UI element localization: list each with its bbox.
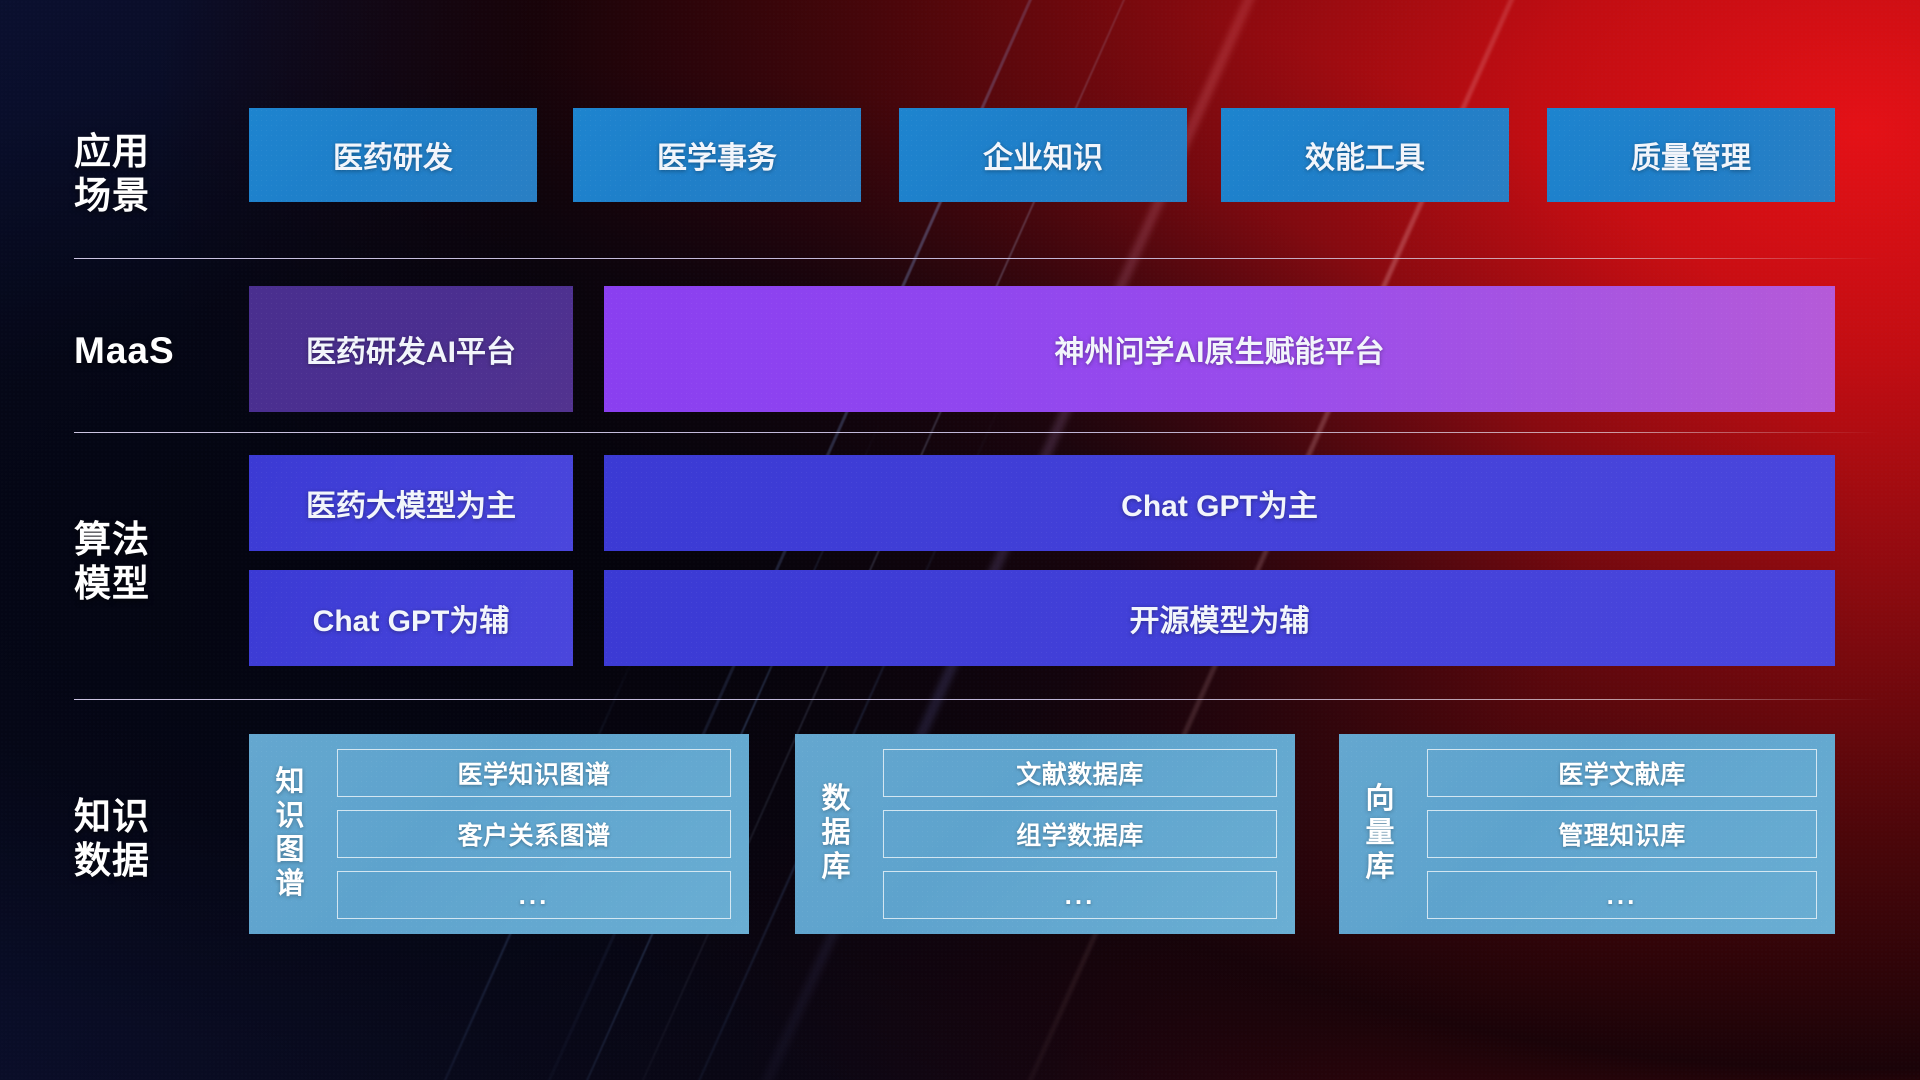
- knowledge-item[interactable]: 医学文献库: [1427, 749, 1817, 797]
- scenario-card-quality-management[interactable]: 质量管理: [1547, 108, 1835, 202]
- knowledge-item-more[interactable]: ...: [883, 871, 1277, 919]
- row-label-algorithm-model: 算法 模型: [74, 518, 226, 605]
- knowledge-item-more[interactable]: ...: [1427, 871, 1817, 919]
- knowledge-item[interactable]: 客户关系图谱: [337, 810, 731, 858]
- knowledge-group-label-char: 向: [1365, 783, 1394, 817]
- knowledge-group-vector-store[interactable]: 向 量 库 医学文献库 管理知识库 ...: [1339, 734, 1835, 934]
- algo-card-chatgpt-primary[interactable]: Chat GPT为主: [604, 455, 1835, 551]
- knowledge-group-label-char: 库: [821, 851, 850, 885]
- row-divider-2: [74, 432, 1880, 433]
- scenario-card-label: 效能工具: [1305, 133, 1425, 177]
- algo-card-opensource-secondary[interactable]: 开源模型为辅: [604, 570, 1835, 666]
- knowledge-group-item-list: 文献数据库 组学数据库 ...: [867, 746, 1281, 922]
- scenario-card-label: 企业知识: [983, 133, 1103, 177]
- scenario-card-drug-rd[interactable]: 医药研发: [249, 108, 537, 202]
- knowledge-group-label-char: 据: [821, 817, 850, 851]
- knowledge-group-label-knowledge-graph: 知 识 图 谱: [259, 746, 321, 922]
- algo-card-label: 医药大模型为主: [306, 481, 516, 525]
- knowledge-group-label-char: 谱: [275, 868, 304, 902]
- knowledge-item[interactable]: 管理知识库: [1427, 810, 1817, 858]
- knowledge-group-item-list: 医学知识图谱 客户关系图谱 ...: [321, 746, 735, 922]
- knowledge-item[interactable]: 组学数据库: [883, 810, 1277, 858]
- row-divider-3: [74, 699, 1880, 700]
- maas-card-drug-rd-ai-platform[interactable]: 医药研发AI平台: [249, 286, 573, 412]
- row-label-application-scenario: 应用 场景: [74, 130, 226, 217]
- algo-card-label: 开源模型为辅: [1130, 596, 1310, 640]
- row-label-line-2: 模型: [74, 562, 226, 606]
- algo-card-pharma-llm-primary[interactable]: 医药大模型为主: [249, 455, 573, 551]
- scenario-card-label: 质量管理: [1631, 133, 1751, 177]
- scenario-card-label: 医药研发: [333, 133, 453, 177]
- scenario-card-enterprise-knowledge[interactable]: 企业知识: [899, 108, 1187, 202]
- row-divider-1: [74, 258, 1880, 259]
- row-label-knowledge-data: 知识 数据: [74, 795, 226, 882]
- row-label-line-1: MaaS: [74, 329, 226, 373]
- knowledge-group-database[interactable]: 数 据 库 文献数据库 组学数据库 ...: [795, 734, 1295, 934]
- maas-card-shenzhou-wenxue-platform[interactable]: 神州问学AI原生赋能平台: [604, 286, 1835, 412]
- maas-card-label: 神州问学AI原生赋能平台: [1055, 327, 1385, 371]
- slide-canvas: 应用 场景 医药研发 医学事务 企业知识 效能工具 质量管理 MaaS 医药研发…: [0, 0, 1920, 1080]
- knowledge-group-item-list: 医学文献库 管理知识库 ...: [1411, 746, 1821, 922]
- row-label-maas: MaaS: [74, 329, 226, 373]
- knowledge-group-label-char: 库: [1365, 851, 1394, 885]
- maas-card-label: 医药研发AI平台: [306, 327, 516, 371]
- knowledge-group-label-char: 量: [1365, 817, 1394, 851]
- row-label-line-1: 知识: [74, 795, 226, 839]
- algo-card-label: Chat GPT为主: [1121, 481, 1318, 525]
- scenario-card-label: 医学事务: [657, 133, 777, 177]
- knowledge-item[interactable]: 文献数据库: [883, 749, 1277, 797]
- row-label-line-2: 数据: [74, 839, 226, 883]
- row-label-line-2: 场景: [74, 174, 226, 218]
- knowledge-group-label-database: 数 据 库: [805, 746, 867, 922]
- knowledge-group-label-char: 图: [275, 834, 304, 868]
- knowledge-item[interactable]: 医学知识图谱: [337, 749, 731, 797]
- scenario-card-efficiency-tools[interactable]: 效能工具: [1221, 108, 1509, 202]
- knowledge-group-knowledge-graph[interactable]: 知 识 图 谱 医学知识图谱 客户关系图谱 ...: [249, 734, 749, 934]
- scenario-card-medical-affairs[interactable]: 医学事务: [573, 108, 861, 202]
- row-label-line-1: 应用: [74, 130, 226, 174]
- knowledge-group-label-char: 识: [275, 800, 304, 834]
- knowledge-item-more[interactable]: ...: [337, 871, 731, 919]
- algo-card-label: Chat GPT为辅: [313, 596, 510, 640]
- row-label-line-1: 算法: [74, 518, 226, 562]
- knowledge-group-label-vector-store: 向 量 库: [1349, 746, 1411, 922]
- knowledge-group-label-char: 知: [275, 766, 304, 800]
- knowledge-group-label-char: 数: [821, 783, 850, 817]
- algo-card-chatgpt-secondary[interactable]: Chat GPT为辅: [249, 570, 573, 666]
